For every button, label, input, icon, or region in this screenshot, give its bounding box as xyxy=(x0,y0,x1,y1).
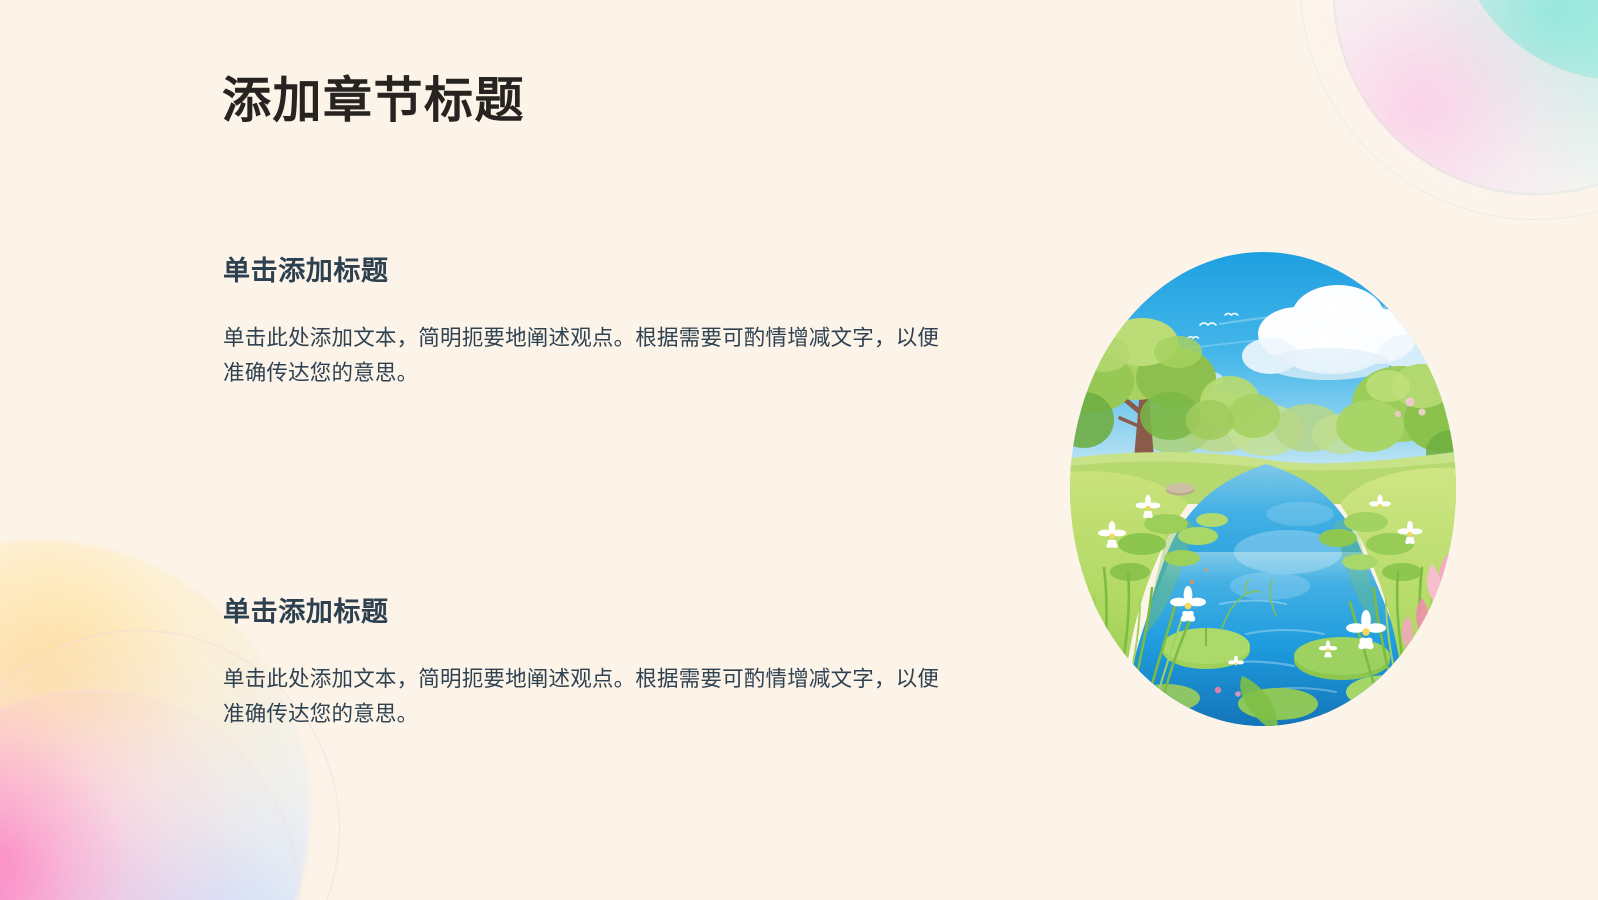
content-block-1: 单击添加标题 单击此处添加文本，简明扼要地阐述观点。根据需要可酌情增减文字，以便… xyxy=(223,255,953,390)
page-title: 添加章节标题 xyxy=(222,72,525,131)
block-heading-2: 单击添加标题 xyxy=(223,596,953,630)
content-block-2: 单击添加标题 单击此处添加文本，简明扼要地阐述观点。根据需要可酌情增减文字，以便… xyxy=(223,596,953,731)
block-body-2: 单击此处添加文本，简明扼要地阐述观点。根据需要可酌情增减文字，以便准确传达您的意… xyxy=(223,662,948,732)
content-column: 单击添加标题 单击此处添加文本，简明扼要地阐述观点。根据需要可酌情增减文字，以便… xyxy=(223,255,953,732)
bubble-top-right-secondary-icon xyxy=(1455,0,1598,80)
block-body-1: 单击此处添加文本，简明扼要地阐述观点。根据需要可酌情增减文字，以便准确传达您的意… xyxy=(223,321,948,391)
block-heading-1: 单击添加标题 xyxy=(223,255,953,289)
pond-illustration-svg xyxy=(1070,252,1456,726)
bubble-top-right-ring-icon xyxy=(1300,0,1598,220)
slide-canvas: 添加章节标题 单击添加标题 单击此处添加文本，简明扼要地阐述观点。根据需要可酌情… xyxy=(0,0,1598,900)
pond-landscape-image xyxy=(1070,252,1456,726)
bubble-top-right-icon xyxy=(1333,0,1598,195)
